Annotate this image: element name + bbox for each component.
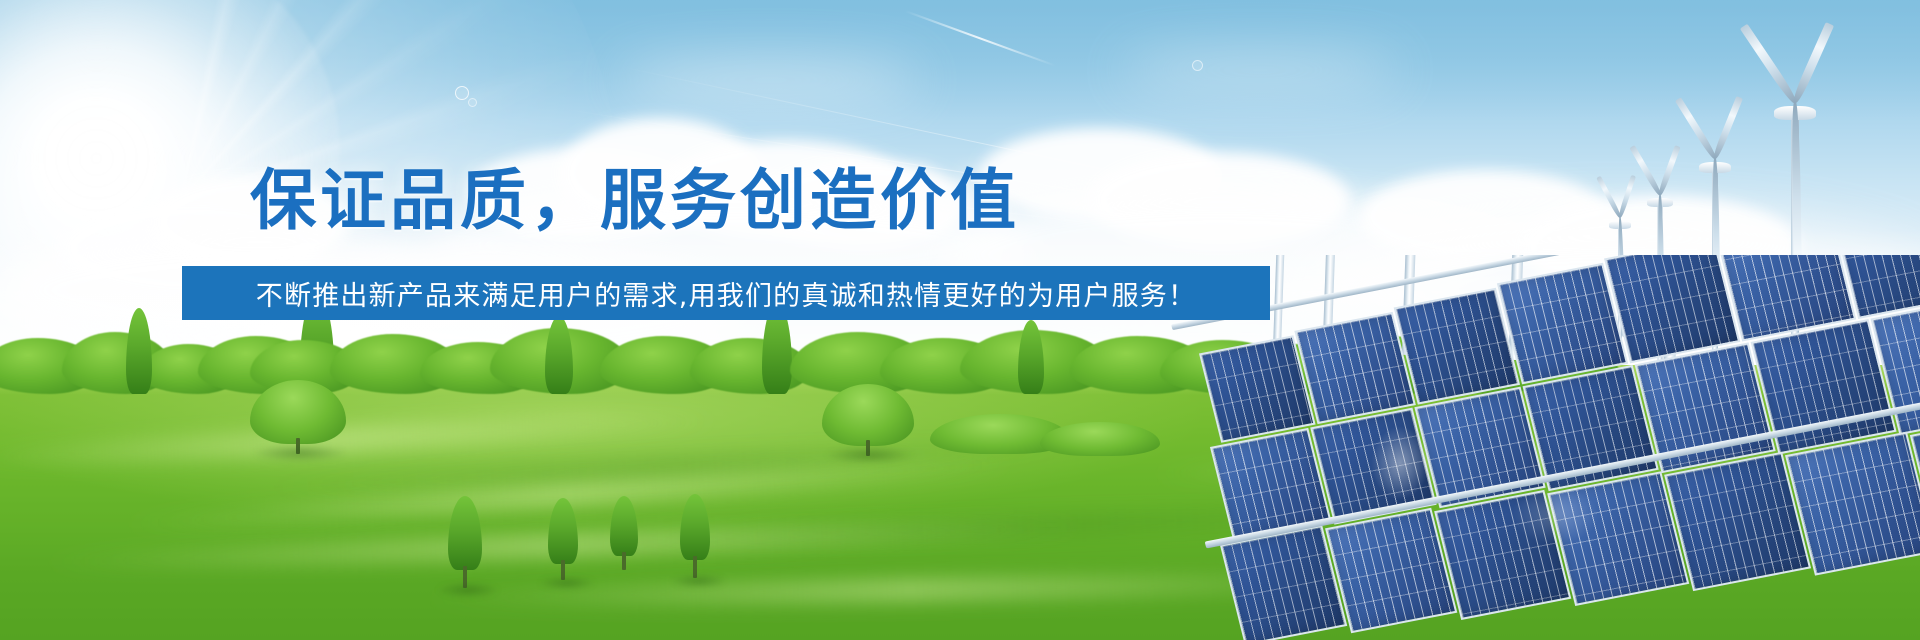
tree-shadow [824, 446, 916, 464]
subtitle-banner: 不断推出新产品来满足用户的需求,用我们的真诚和热情更好的为用户服务！ [182, 266, 1270, 320]
page-title: 保证品质，服务创造价值 [0, 168, 1270, 234]
tree-shadow [436, 582, 500, 598]
promo-banner: 保证品质，服务创造价值 不断推出新产品来满足用户的需求,用我们的真诚和热情更好的… [0, 0, 1920, 640]
subtitle-text: 不断推出新产品来满足用户的需求,用我们的真诚和热情更好的为用户服务！ [256, 274, 1196, 313]
solar-panel-array [1170, 255, 1920, 640]
cypress-tree-icon [126, 308, 152, 394]
tree-shadow [670, 574, 728, 588]
panel-plane [1170, 255, 1920, 640]
tree-trunk [622, 552, 626, 570]
tree-shadow [252, 444, 348, 462]
tree-shadow [538, 576, 596, 590]
